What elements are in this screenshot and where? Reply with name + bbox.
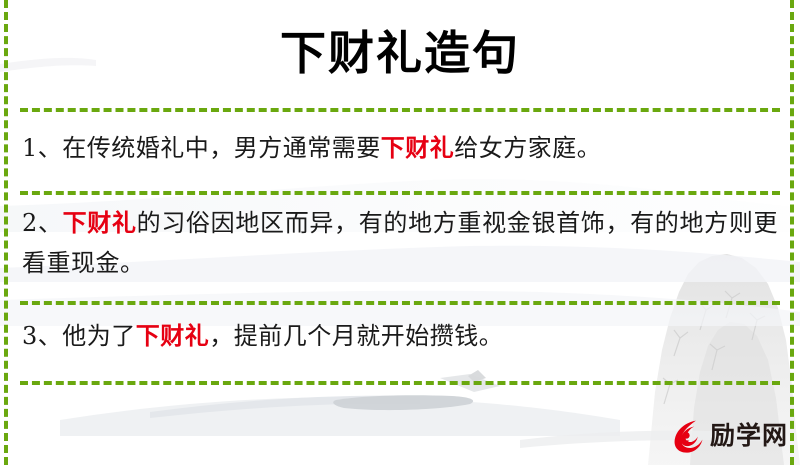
sentence-1-index: 1、 bbox=[22, 134, 62, 162]
sentence-item-1: 1、在传统婚礼中，男方通常需要下财礼给女方家庭。 bbox=[22, 128, 778, 168]
site-logo-text: 励学网 bbox=[710, 417, 788, 455]
sentence-1-keyword: 下财礼 bbox=[381, 133, 455, 162]
sentence-2-keyword: 下财礼 bbox=[63, 208, 137, 237]
divider-after-sentence-3 bbox=[20, 381, 780, 385]
sentence-1-part-1: 在传统婚礼中，男方通常需要 bbox=[62, 134, 381, 162]
worksheet-page: 下财礼造句 1、在传统婚礼中，男方通常需要下财礼给女方家庭。 2、下财礼的习俗因… bbox=[0, 0, 800, 465]
sentence-2-index: 2、 bbox=[22, 209, 63, 237]
site-logo[interactable]: 励学网 bbox=[668, 414, 788, 458]
divider-after-sentence-1 bbox=[20, 191, 780, 195]
page-title: 下财礼造句 bbox=[0, 18, 800, 88]
sentence-1-part-3: 给女方家庭。 bbox=[454, 134, 601, 162]
sentence-3-index: 3、 bbox=[22, 322, 62, 350]
sentence-3-part-3: ，提前几个月就开始攒钱。 bbox=[209, 322, 503, 350]
divider-below-title bbox=[20, 108, 780, 112]
sentence-3-part-1: 他为了 bbox=[62, 322, 136, 350]
sentence-item-3: 3、他为了下财礼，提前几个月就开始攒钱。 bbox=[22, 316, 778, 356]
sentence-3-keyword: 下财礼 bbox=[136, 321, 210, 350]
sentence-item-2: 2、下财礼的习俗因地区而异，有的地方重视金银首饰，有的地方则更看重现金。 bbox=[22, 203, 778, 283]
divider-after-sentence-2 bbox=[20, 301, 780, 305]
swirl-flame-icon bbox=[668, 417, 706, 455]
